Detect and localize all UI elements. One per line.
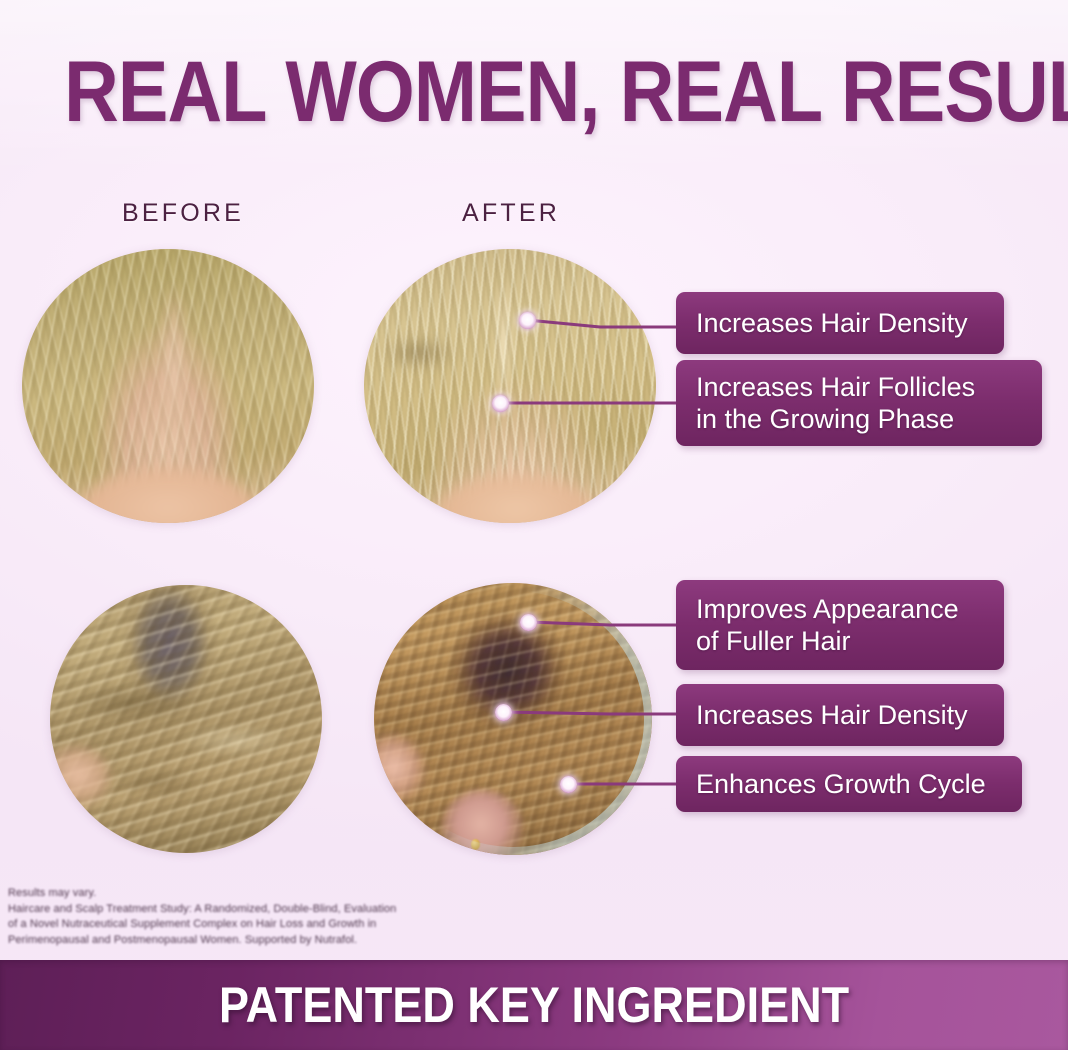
page-title: REAL WOMEN, REAL RESULTS! — [64, 46, 1004, 138]
callout-improves-appearance: Improves Appearance of Fuller Hair — [676, 580, 1004, 670]
callout-dot-5 — [560, 776, 577, 793]
bottom-banner: PATENTED KEY INGREDIENT — [0, 960, 1068, 1050]
callout-dot-1 — [519, 312, 536, 329]
fineprint-line-1: Results may vary. — [8, 886, 528, 902]
callout-5-text: Enhances Growth Cycle — [696, 768, 986, 800]
label-before: BEFORE — [122, 199, 244, 228]
fineprint-disclaimer: Results may vary. Haircare and Scalp Tre… — [8, 886, 528, 948]
callout-increases-hair-density-bottom: Increases Hair Density — [676, 684, 1004, 746]
fineprint-line-4: Perimenopausal and Postmenopausal Women.… — [8, 933, 528, 949]
callout-enhances-growth-cycle: Enhances Growth Cycle — [676, 756, 1022, 812]
fineprint-line-2: Haircare and Scalp Treatment Study: A Ra… — [8, 902, 528, 918]
label-after: AFTER — [462, 199, 560, 228]
photo-before-bottom-waves — [50, 585, 322, 853]
photo-before-bottom — [50, 585, 322, 853]
callout-1-text: Increases Hair Density — [696, 307, 968, 339]
callout-dot-3 — [520, 614, 537, 631]
callout-4-text: Increases Hair Density — [696, 699, 968, 731]
callout-increases-hair-follicles: Increases Hair Follicles in the Growing … — [676, 360, 1042, 446]
photo-after-bottom-halo — [374, 583, 652, 855]
bottom-banner-text: PATENTED KEY INGREDIENT — [219, 978, 849, 1032]
callout-3-text: Improves Appearance of Fuller Hair — [696, 593, 959, 657]
photo-before-top — [22, 249, 314, 523]
callout-dot-2 — [492, 395, 509, 412]
photo-after-bottom — [374, 583, 652, 855]
fineprint-line-3: of a Novel Nutraceutical Supplement Comp… — [8, 917, 528, 933]
photo-after-top — [364, 249, 656, 523]
callout-increases-hair-density-top: Increases Hair Density — [676, 292, 1004, 354]
callout-dot-4 — [495, 704, 512, 721]
advertisement-canvas: REAL WOMEN, REAL RESULTS! BEFORE AFTER — [0, 0, 1068, 1050]
callout-2-text: Increases Hair Follicles in the Growing … — [696, 371, 975, 435]
